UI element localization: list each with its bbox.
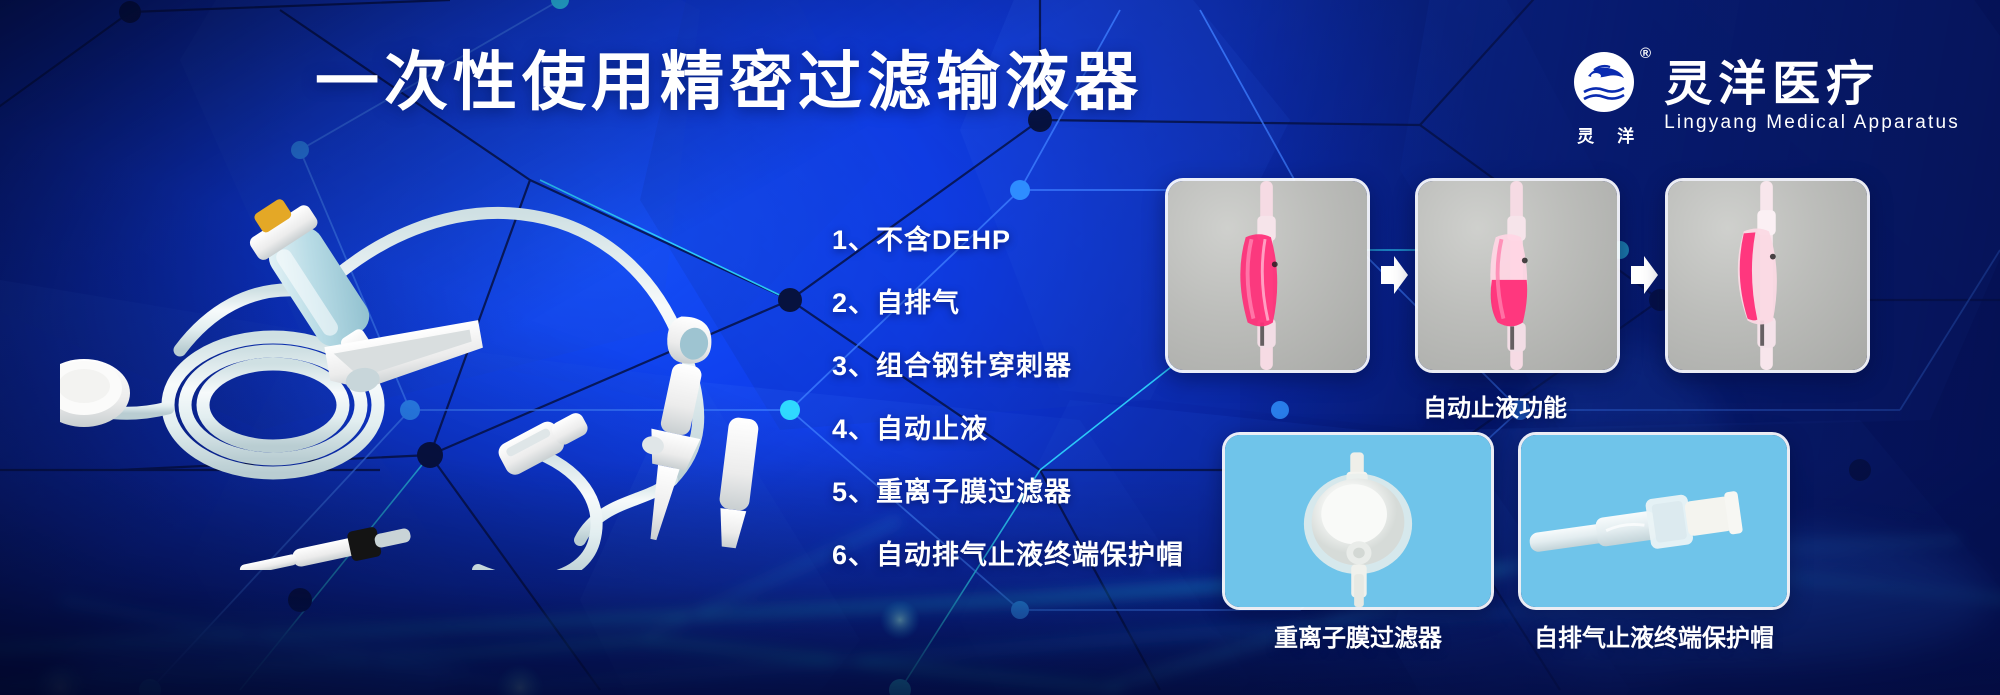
seal-char-yang: 洋	[1617, 122, 1635, 147]
feature-item: 5、重离子膜过滤器	[832, 470, 1184, 509]
brand-logo: ® 灵 洋 灵洋医疗 Lingyang Medical Apparatus	[1570, 46, 1960, 147]
feature-item: 2、自排气	[832, 281, 1184, 320]
protective-cap-part	[714, 417, 760, 550]
arrow-right-icon	[1629, 252, 1659, 298]
product-banner: 一次性使用精密过滤输液器 ® 灵 洋 灵洋医疗 Lingya	[0, 0, 2000, 695]
feature-item: 3、组合钢针穿刺器	[832, 344, 1184, 383]
filter-caption: 重离子膜过滤器	[1274, 618, 1442, 653]
feature-item: 1、不含DEHP	[832, 218, 1184, 257]
brand-name-cn: 灵洋医疗	[1664, 59, 1960, 111]
arrow-right-icon	[1379, 252, 1409, 298]
feature-item: 4、自动止液	[832, 407, 1184, 446]
brand-seal-mark: ® 灵 洋	[1570, 46, 1642, 147]
auto-stop-step-photo-1	[1165, 178, 1370, 373]
feature-list: 1、不含DEHP 2、自排气 3、组合钢针穿刺器 4、自动止液 5、重离子膜过滤…	[832, 218, 1184, 572]
feature-item: 6、自动排气止液终端保护帽	[832, 533, 1184, 572]
brand-seal-chars: 灵 洋	[1577, 122, 1635, 147]
y-connector-part	[495, 405, 592, 478]
brand-text-block: 灵洋医疗 Lingyang Medical Apparatus	[1664, 59, 1960, 135]
disposable-precision-filter-infusion-set-photo	[60, 150, 820, 570]
registered-trademark-icon: ®	[1640, 45, 1651, 62]
seal-char-ling: 灵	[1577, 122, 1595, 147]
steel-needle-part	[623, 313, 725, 545]
self-venting-terminal-protective-cap-photo	[1518, 432, 1790, 610]
protector-caption: 自排气止液终端保护帽	[1534, 618, 1774, 653]
brand-name-en: Lingyang Medical Apparatus	[1664, 112, 1960, 134]
auto-stop-step-photo-2	[1415, 178, 1620, 373]
lingyang-seal-logo-icon: ®	[1570, 46, 1642, 118]
infusion-needle-part	[237, 520, 413, 570]
auto-stop-step-photo-3	[1665, 178, 1870, 373]
heavy-ion-membrane-filter-photo	[1222, 432, 1494, 610]
auto-stop-caption: 自动止液功能	[1423, 388, 1567, 423]
page-title: 一次性使用精密过滤输液器	[315, 50, 1143, 114]
